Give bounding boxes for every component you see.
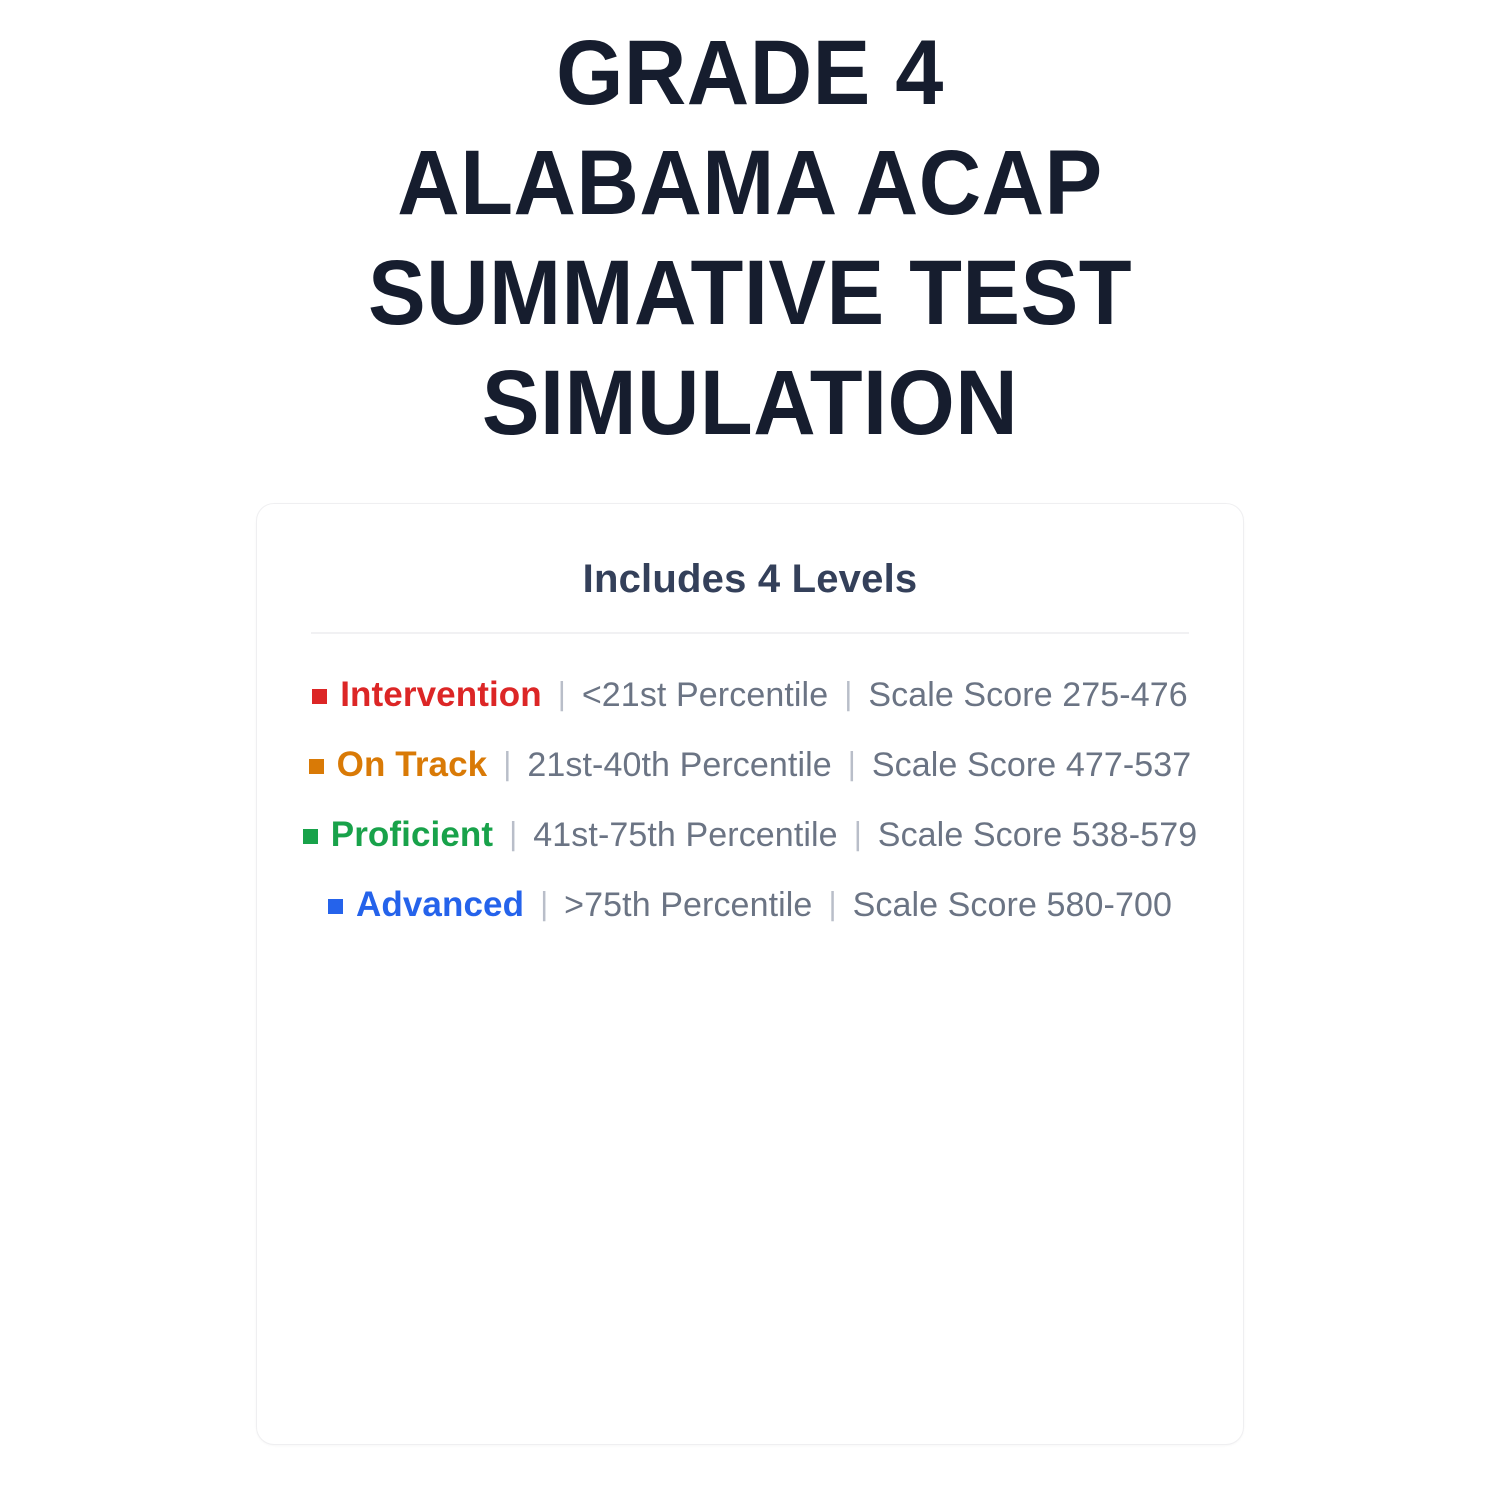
level-separator: |: [487, 745, 527, 785]
page-title-line-3: SUMMATIVE TEST: [368, 242, 1132, 344]
level-name: Proficient: [331, 815, 493, 855]
level-percentile: >75th Percentile: [564, 885, 812, 925]
level-name: Intervention: [340, 675, 542, 715]
level-percentile: 21st-40th Percentile: [527, 745, 831, 785]
level-separator: |: [542, 675, 582, 715]
square-bullet-icon: [312, 689, 327, 704]
level-separator: |: [828, 675, 868, 715]
list-item: Advanced | >75th Percentile | Scale Scor…: [303, 870, 1197, 940]
page-title-line-1: GRADE 4: [556, 22, 944, 124]
square-bullet-icon: [309, 759, 324, 774]
level-separator: |: [493, 815, 533, 855]
list-item: On Track | 21st-40th Percentile | Scale …: [303, 730, 1197, 800]
page-title: GRADE 4 ALABAMA ACAP SUMMATIVE TEST SIMU…: [45, 0, 1455, 458]
page-title-line-4: SIMULATION: [482, 352, 1018, 454]
levels-card: Includes 4 Levels Intervention | <21st P…: [256, 503, 1244, 1445]
level-separator: |: [524, 885, 564, 925]
square-bullet-icon: [303, 829, 318, 844]
levels-card-body: Includes 4 Levels Intervention | <21st P…: [257, 504, 1243, 940]
page-root: GRADE 4 ALABAMA ACAP SUMMATIVE TEST SIMU…: [0, 0, 1500, 1500]
list-item: Proficient | 41st-75th Percentile | Scal…: [303, 800, 1197, 870]
level-scale-score: Scale Score 477-537: [872, 745, 1191, 785]
level-separator: |: [832, 745, 872, 785]
list-item: Intervention | <21st Percentile | Scale …: [303, 660, 1197, 730]
level-name: On Track: [337, 745, 488, 785]
level-scale-score: Scale Score 580-700: [853, 885, 1172, 925]
level-name: Advanced: [356, 885, 524, 925]
level-scale-score: Scale Score 275-476: [868, 675, 1187, 715]
square-bullet-icon: [328, 899, 343, 914]
level-percentile: <21st Percentile: [582, 675, 828, 715]
level-scale-score: Scale Score 538-579: [878, 815, 1197, 855]
level-percentile: 41st-75th Percentile: [533, 815, 837, 855]
page-title-line-2: ALABAMA ACAP: [397, 132, 1102, 234]
card-heading: Includes 4 Levels: [303, 556, 1197, 602]
levels-list: Intervention | <21st Percentile | Scale …: [303, 634, 1197, 940]
level-separator: |: [838, 815, 878, 855]
level-separator: |: [812, 885, 852, 925]
